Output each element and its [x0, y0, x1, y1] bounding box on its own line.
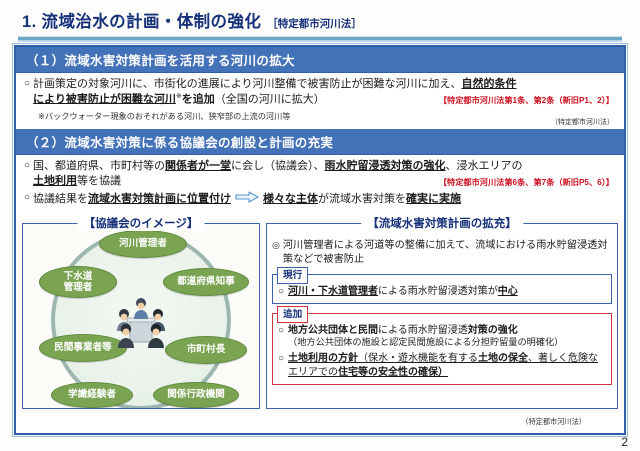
- oval-prefectural-governor: 都道府県知事: [163, 268, 249, 296]
- s2b1-f: 土地利用: [33, 175, 77, 187]
- s2b1-e: 、浸水エリアの: [446, 160, 523, 172]
- panel-plan-body: ◎ 河川管理者による河道等の整備に加えて、流域における雨水貯留浸透対策などで被害…: [266, 223, 618, 409]
- section-2-reference: 【特定都市河川法第6条、第7条（新旧P5、6）】: [439, 176, 614, 188]
- oval-academic-expert: 学識経験者: [51, 382, 133, 408]
- additional-item-2: ○ 土地利用の方針（保水・遊水機能を有する土地の保全、著しく危険なエリアでの住宅…: [278, 352, 606, 379]
- content-frame: （１）流域水害対策計画を活用する河川の拡大 ○ 計画策定の対象河川に、市街化の進…: [14, 45, 626, 435]
- section-2-heading: （２）流域水害対策に係る協議会の創設と計画の充実: [16, 129, 624, 155]
- panel-plan-title: 【流域水害対策計画の拡充】: [361, 215, 523, 231]
- section-1-body: ○ 計画策定の対象河川に、市街化の進展により河川整備で被害防止が困難な河川に加え…: [16, 73, 624, 129]
- add2-a: 土地利用の方針: [288, 353, 358, 364]
- s2b2-a: 協議結果を: [33, 193, 88, 205]
- section-1-heading: （１）流域水害対策計画を活用する河川の拡大: [16, 47, 624, 73]
- title-main-text: 1. 流域治水の計画・体制の強化: [22, 8, 261, 32]
- section-1-source: （特定都市河川法）: [551, 117, 614, 127]
- oval-river-manager: 河川管理者: [99, 230, 187, 258]
- bullet-marker: ○: [278, 352, 284, 379]
- oval-related-agency: 関係行政機関: [153, 382, 239, 408]
- s2b1-c: に会し（協議会）、: [231, 160, 325, 172]
- bullet-marker: ○: [24, 159, 30, 173]
- section-1: （１）流域水害対策計画を活用する河川の拡大 ○ 計画策定の対象河川に、市街化の進…: [16, 47, 624, 129]
- s1-line2-c: （全国の河川に拡大）: [215, 93, 325, 105]
- title-law-tag: ［特定都市河川法］: [267, 16, 362, 31]
- add1-b: による雨水貯留浸透: [378, 325, 468, 336]
- section-2: （２）流域水害対策に係る協議会の創設と計画の充実 ○ 国、都道府県、市町村等の関…: [16, 129, 624, 209]
- panel-council-image: 【協議会のイメージ】 河川管理者 下水道管理者 都道府県知事 民間事業者等 市町…: [22, 215, 260, 409]
- bottom-source-note: （特定都市河川法）: [521, 417, 586, 427]
- meeting-people-icon: [108, 294, 174, 352]
- current-measures-box: 現行 ○ 河川・下水道管理者による雨水貯留浸透対策が中心: [272, 274, 612, 305]
- cur-b: による雨水貯留浸透対策が: [378, 286, 498, 297]
- oval-municipal-mayor: 市町村長: [165, 336, 247, 364]
- section-2-body: ○ 国、都道府県、市町村等の関係者が一堂に会し（協議会）、雨水貯留浸透対策の強化…: [16, 155, 624, 209]
- lead-marker: ◎: [272, 239, 280, 267]
- plan-lead-text: 河川管理者による河道等の整備に加えて、流域における雨水貯留浸透対策などで被害防止: [283, 239, 612, 267]
- current-item: ○ 河川・下水道管理者による雨水貯留浸透対策が中心: [278, 285, 606, 299]
- s1-line2-b: を追加: [182, 93, 215, 105]
- lower-panels: 【協議会のイメージ】 河川管理者 下水道管理者 都道府県知事 民間事業者等 市町…: [22, 215, 618, 409]
- add2-b: （保水・遊水機能を有する: [358, 353, 478, 364]
- s2b1-b: 関係者が一堂: [165, 160, 231, 172]
- s2b1-g: 等を協議: [77, 175, 121, 187]
- additional-measures-box: 追加 ○ 地方公共団体と民間による雨水貯留浸透対策の強化 （地方公共団体の施設と…: [272, 313, 612, 385]
- additional-item-2-text: 土地利用の方針（保水・遊水機能を有する土地の保全、著しく危険なエリアでの住宅等の…: [288, 352, 606, 379]
- s2b1-d: 雨水貯留浸透対策の強化: [325, 160, 446, 172]
- add1-c: 対策の強化: [468, 325, 518, 336]
- current-item-text: 河川・下水道管理者による雨水貯留浸透対策が中心: [288, 285, 518, 299]
- page-number: 2: [621, 435, 628, 449]
- bullet-marker: ○: [24, 77, 30, 91]
- s1-line2-a: により被害防止が困難な河川: [33, 93, 176, 105]
- add2-c: 土地の保全: [478, 353, 528, 364]
- page-title: 1. 流域治水の計画・体制の強化 ［特定都市河川法］: [22, 8, 362, 32]
- oval-sewerage-manager: 下水道管理者: [39, 266, 117, 298]
- section-1-reference: 【特定都市河川法第1条、第2条（新旧P1、2）】: [439, 94, 614, 106]
- s2b1-a: 国、都道府県、市町村等の: [33, 160, 165, 172]
- current-tag: 現行: [277, 267, 308, 284]
- add1-a: 地方公共団体と民間: [288, 325, 378, 336]
- bullet-marker: ○: [24, 191, 30, 205]
- section-2-bullet-2-text: 協議結果を流域水害対策計画に位置付け様々な主体が流域水害対策を確実に実施: [33, 191, 616, 208]
- additional-tag: 追加: [277, 306, 308, 323]
- s2b2-d: が流域水害対策を: [318, 193, 406, 205]
- section-1-note: ※バックウォーター現象のおそれがある河川、狭窄部の上流の河川等: [38, 110, 616, 122]
- s2b2-e: 確実に実施: [406, 193, 461, 205]
- slide-page: 1. 流域治水の計画・体制の強化 ［特定都市河川法］ （１）流域水害対策計画を活…: [0, 0, 640, 451]
- add1-sub: （地方公共団体の施設と認定民間施設による分担貯留量の明確化）: [288, 337, 563, 349]
- additional-item-1: ○ 地方公共団体と民間による雨水貯留浸透対策の強化 （地方公共団体の施設と認定民…: [278, 324, 606, 349]
- section-2-bullet-2: ○ 協議結果を流域水害対策計画に位置付け様々な主体が流域水害対策を確実に実施: [24, 191, 616, 208]
- s2b2-c: 様々な主体: [263, 193, 318, 205]
- s2b2-b: 流域水害対策計画に位置付け: [88, 193, 231, 205]
- right-arrow-icon: [235, 191, 259, 208]
- plan-lead-row: ◎ 河川管理者による河道等の整備に加えて、流域における雨水貯留浸透対策などで被害…: [272, 239, 612, 267]
- panel-plan-expansion: 【流域水害対策計画の拡充】 ◎ 河川管理者による河道等の整備に加えて、流域におけ…: [266, 215, 618, 409]
- cur-a: 河川・下水道管理者: [288, 286, 378, 297]
- add2-e: 住宅等の安全性の確保）: [338, 367, 448, 378]
- bullet-marker: ○: [278, 285, 284, 299]
- s1-line1-emph: 自然的条件: [462, 78, 517, 90]
- cur-c: 中心: [498, 286, 518, 297]
- title-divider-rule: [18, 36, 622, 42]
- panel-council-title: 【協議会のイメージ】: [78, 215, 205, 231]
- bullet-marker: ○: [278, 324, 284, 349]
- additional-item-1-text: 地方公共団体と民間による雨水貯留浸透対策の強化 （地方公共団体の施設と認定民間施…: [288, 324, 563, 349]
- council-diagram: 河川管理者 下水道管理者 都道府県知事 民間事業者等 市町村長 学識経験者 関係…: [22, 223, 260, 409]
- s1-line1-a: 計画策定の対象河川に、市街化の進展により河川整備で被害防止が困難な河川に加え、: [33, 78, 461, 90]
